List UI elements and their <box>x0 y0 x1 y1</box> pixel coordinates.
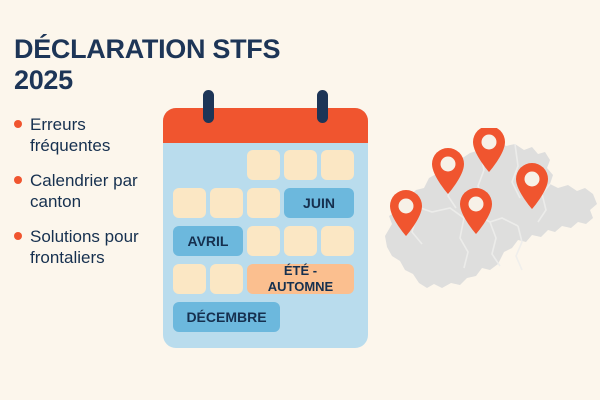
cell-r3-c5 <box>321 226 354 256</box>
infographic-canvas: DÉCLARATION STFS 2025 Erreurs fréquentes… <box>0 0 600 400</box>
cell-r2-c2 <box>210 188 243 218</box>
cell-avril-label: AVRIL <box>185 234 232 248</box>
cell-r4-c2 <box>210 264 243 294</box>
bullet-dot-icon <box>14 176 22 184</box>
bullet-label-calendar: Calendrier par canton <box>30 170 164 212</box>
page-title: DÉCLARATION STFS 2025 <box>14 34 164 96</box>
title-line-1: DÉCLARATION STFS <box>14 34 280 64</box>
bullet-label-errors: Erreurs fréquentes <box>30 114 164 156</box>
cell-r2-c3 <box>247 188 280 218</box>
list-item-calendar: Calendrier par canton <box>14 170 164 212</box>
list-item-solutions: Solutions pour frontaliers <box>14 226 164 268</box>
cell-r2-c1 <box>173 188 206 218</box>
cell-juin-label: JUIN <box>300 196 338 210</box>
bullet-label-solutions: Solutions pour frontaliers <box>30 226 164 268</box>
cell-r1-c4 <box>284 150 317 180</box>
cell-avril[interactable]: AVRIL <box>173 226 243 256</box>
bullet-dot-icon <box>14 232 22 240</box>
calendar-grid: JUINAVRILÉTÉ - AUTOMNEDÉCEMBRE <box>173 150 358 340</box>
cell-decembre-label: DÉCEMBRE <box>183 310 269 324</box>
cell-r4-c1 <box>173 264 206 294</box>
cell-r3-c3 <box>247 226 280 256</box>
calendar-ring-right-icon <box>317 90 328 123</box>
cell-r3-c4 <box>284 226 317 256</box>
map-svg <box>372 128 600 308</box>
bullet-list: Erreurs fréquentes Calendrier par canton… <box>14 114 164 268</box>
cell-ete-automne[interactable]: ÉTÉ - AUTOMNE <box>247 264 354 294</box>
cell-juin[interactable]: JUIN <box>284 188 354 218</box>
cell-r1-c3 <box>247 150 280 180</box>
calendar-header-bar <box>163 108 368 143</box>
cell-ete-automne-label: ÉTÉ - AUTOMNE <box>247 263 354 295</box>
list-item-errors: Erreurs fréquentes <box>14 114 164 156</box>
switzerland-map <box>372 128 600 308</box>
cell-r1-c5 <box>321 150 354 180</box>
calendar-ring-left-icon <box>203 90 214 123</box>
calendar-illustration: JUINAVRILÉTÉ - AUTOMNEDÉCEMBRE <box>163 108 368 348</box>
cell-decembre[interactable]: DÉCEMBRE <box>173 302 280 332</box>
bullet-dot-icon <box>14 120 22 128</box>
title-line-2: 2025 <box>14 65 164 96</box>
left-text-column: DÉCLARATION STFS 2025 Erreurs fréquentes… <box>14 34 164 282</box>
